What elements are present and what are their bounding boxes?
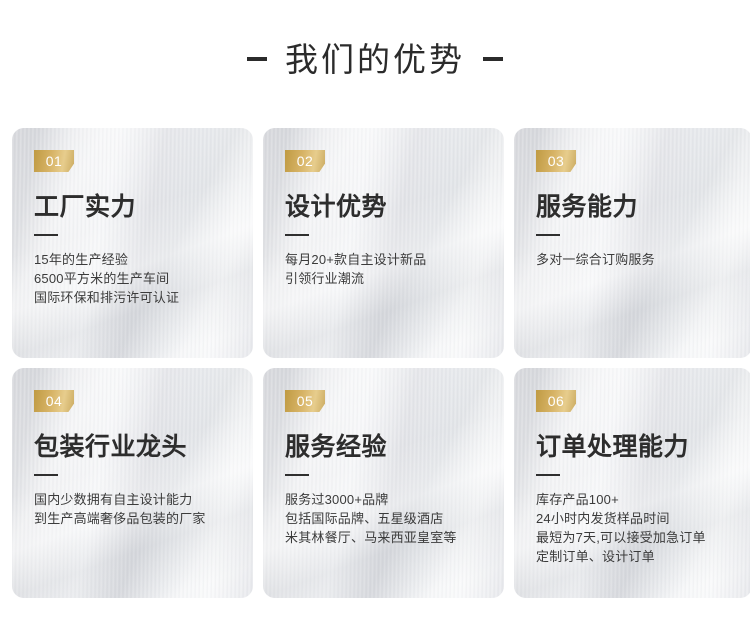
card-line: 包括国际品牌、五星级酒店 bbox=[285, 509, 482, 528]
card-divider bbox=[536, 474, 560, 476]
card-heading: 设计优势 bbox=[285, 194, 482, 220]
card-line: 多对一综合订购服务 bbox=[536, 250, 730, 269]
card-description: 库存产品100+ 24小时内发货样品时间 最短为7天,可以接受加急订单 定制订单… bbox=[536, 490, 730, 566]
card-line: 最短为7天,可以接受加急订单 bbox=[536, 528, 730, 547]
card-number-badge: 03 bbox=[536, 150, 576, 172]
card-description: 每月20+款自主设计新品 引领行业潮流 bbox=[285, 250, 482, 288]
card-line: 定制订单、设计订单 bbox=[536, 547, 730, 566]
card-heading: 服务经验 bbox=[285, 434, 482, 460]
card-heading: 服务能力 bbox=[536, 194, 730, 220]
card-heading: 包装行业龙头 bbox=[34, 434, 231, 460]
advantage-card-05[interactable]: 05 服务经验 服务过3000+品牌 包括国际品牌、五星级酒店 米其林餐厅、马来… bbox=[263, 368, 504, 598]
card-heading: 订单处理能力 bbox=[536, 434, 730, 460]
advantage-card-03[interactable]: 03 服务能力 多对一综合订购服务 bbox=[514, 128, 750, 358]
card-divider bbox=[34, 234, 58, 236]
card-line: 库存产品100+ bbox=[536, 490, 730, 509]
card-number-badge: 01 bbox=[34, 150, 74, 172]
advantage-card-02[interactable]: 02 设计优势 每月20+款自主设计新品 引领行业潮流 bbox=[263, 128, 504, 358]
page-title-text: 我们的优势 bbox=[285, 43, 465, 76]
advantages-grid: 01 工厂实力 15年的生产经验 6500平方米的生产车间 国际环保和排污许可认… bbox=[12, 128, 748, 598]
card-divider bbox=[34, 474, 58, 476]
title-left-dash-icon bbox=[247, 57, 267, 61]
card-line: 米其林餐厅、马来西亚皇室等 bbox=[285, 528, 482, 547]
card-number-badge: 05 bbox=[285, 390, 325, 412]
card-line: 服务过3000+品牌 bbox=[285, 490, 482, 509]
card-heading: 工厂实力 bbox=[34, 194, 231, 220]
card-divider bbox=[285, 234, 309, 236]
card-line: 国际环保和排污许可认证 bbox=[34, 288, 231, 307]
card-line: 国内少数拥有自主设计能力 bbox=[34, 490, 231, 509]
card-number-badge: 02 bbox=[285, 150, 325, 172]
card-number-badge: 04 bbox=[34, 390, 74, 412]
advantage-card-06[interactable]: 06 订单处理能力 库存产品100+ 24小时内发货样品时间 最短为7天,可以接… bbox=[514, 368, 750, 598]
card-number-badge: 06 bbox=[536, 390, 576, 412]
card-line: 6500平方米的生产车间 bbox=[34, 269, 231, 288]
advantage-card-01[interactable]: 01 工厂实力 15年的生产经验 6500平方米的生产车间 国际环保和排污许可认… bbox=[12, 128, 253, 358]
card-line: 到生产高端奢侈品包装的厂家 bbox=[34, 509, 231, 528]
advantage-card-04[interactable]: 04 包装行业龙头 国内少数拥有自主设计能力 到生产高端奢侈品包装的厂家 bbox=[12, 368, 253, 598]
card-line: 15年的生产经验 bbox=[34, 250, 231, 269]
card-description: 服务过3000+品牌 包括国际品牌、五星级酒店 米其林餐厅、马来西亚皇室等 bbox=[285, 490, 482, 547]
card-line: 每月20+款自主设计新品 bbox=[285, 250, 482, 269]
page-title: 我们的优势 bbox=[0, 0, 750, 110]
card-line: 24小时内发货样品时间 bbox=[536, 509, 730, 528]
card-description: 多对一综合订购服务 bbox=[536, 250, 730, 269]
card-description: 15年的生产经验 6500平方米的生产车间 国际环保和排污许可认证 bbox=[34, 250, 231, 307]
card-line: 引领行业潮流 bbox=[285, 269, 482, 288]
card-description: 国内少数拥有自主设计能力 到生产高端奢侈品包装的厂家 bbox=[34, 490, 231, 528]
title-right-dash-icon bbox=[483, 57, 503, 61]
card-divider bbox=[536, 234, 560, 236]
card-divider bbox=[285, 474, 309, 476]
